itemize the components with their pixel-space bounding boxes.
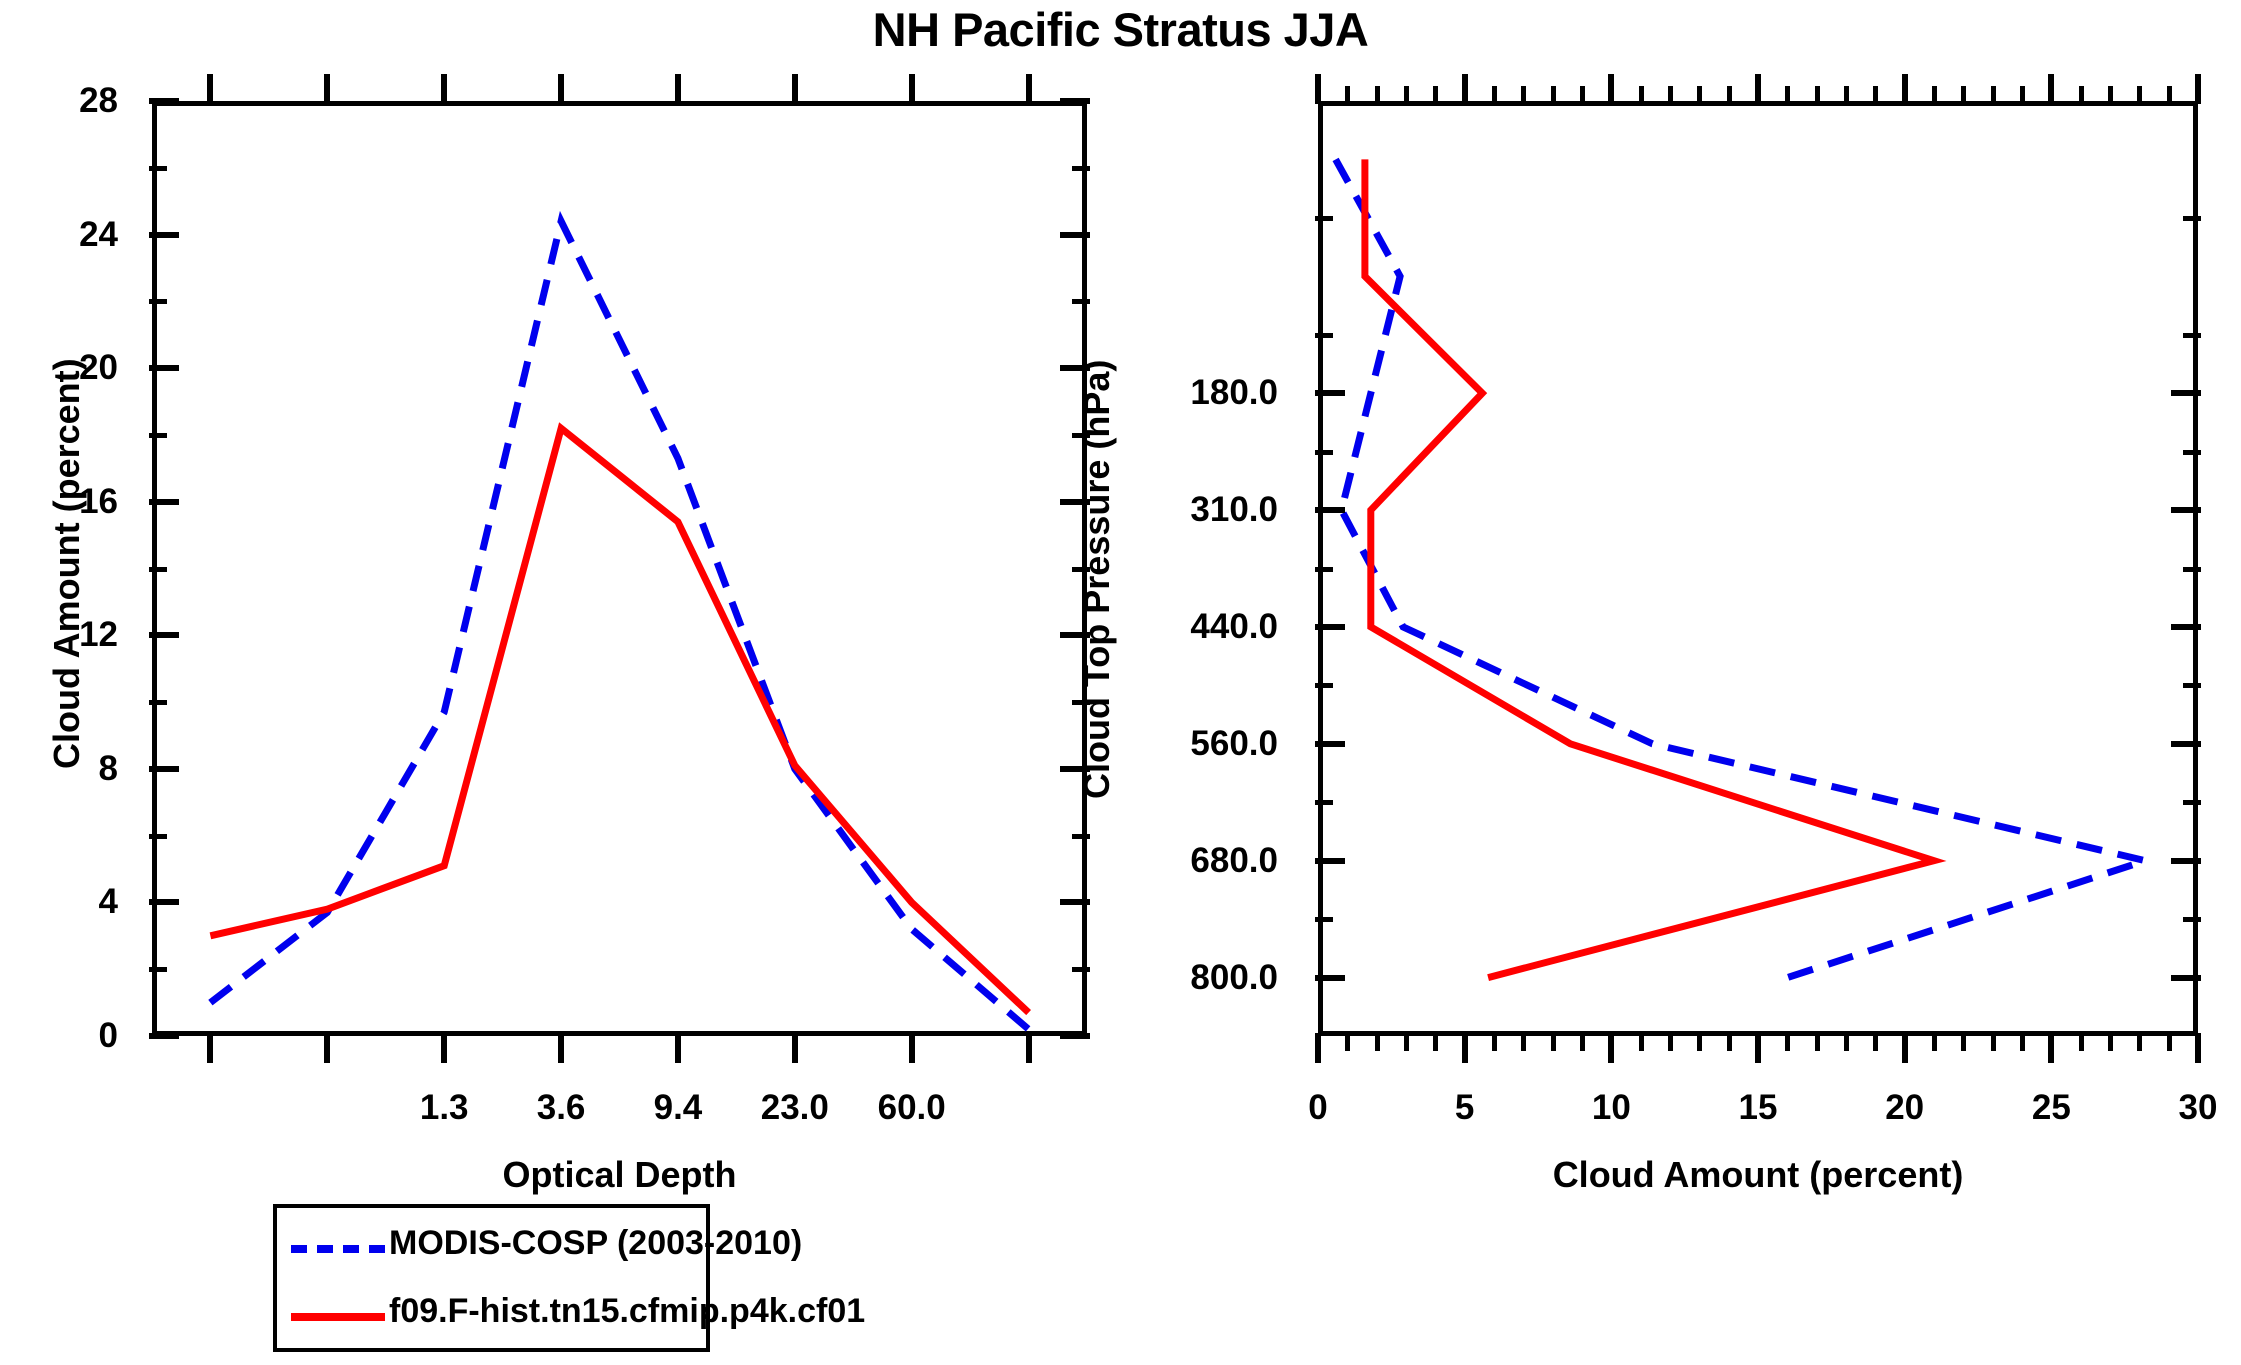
axis-tick [1639, 1033, 1644, 1051]
axis-tick [1580, 86, 1585, 104]
axis-tick [1639, 86, 1644, 104]
axis-tick [1315, 975, 1345, 981]
axis-tick-label: 15 [1739, 1088, 1778, 1128]
axis-tick [1668, 86, 1673, 104]
axis-tick [1755, 74, 1761, 104]
axis-tick [1315, 800, 1333, 805]
axis-tick [1462, 1033, 1468, 1063]
axis-tick [1315, 333, 1333, 338]
axis-tick [2171, 624, 2201, 630]
axis-tick [1345, 1033, 1350, 1051]
axis-tick [2167, 1033, 2172, 1051]
axis-tick [1521, 86, 1526, 104]
axis-tick-label: 560.0 [1108, 724, 1278, 764]
axis-tick [2171, 975, 2201, 981]
legend-label-modis: MODIS-COSP (2003-2010) [389, 1224, 802, 1263]
legend-swatch-solid [291, 1313, 385, 1321]
axis-tick [1608, 74, 1614, 104]
axis-tick [1462, 74, 1468, 104]
axis-tick [1697, 86, 1702, 104]
axis-tick [1433, 1033, 1438, 1051]
axis-tick [1433, 86, 1438, 104]
axis-tick [2171, 741, 2201, 747]
axis-tick-label: 310.0 [1108, 490, 1278, 530]
axis-tick [2171, 507, 2201, 513]
axis-tick [2048, 1033, 2054, 1063]
axis-tick [1785, 1033, 1790, 1051]
axis-tick [1844, 86, 1849, 104]
cloud-top-pressure-x-axis-title: Cloud Amount (percent) [1553, 1154, 1964, 1196]
axis-tick [2183, 917, 2201, 922]
axis-tick [1315, 216, 1333, 221]
axis-tick-label: 10 [1592, 1088, 1631, 1128]
axis-tick [1375, 1033, 1380, 1051]
axis-tick-label: 440.0 [1108, 607, 1278, 647]
axis-tick [2137, 1033, 2142, 1051]
axis-tick [1315, 450, 1333, 455]
axis-tick [2171, 390, 2201, 396]
axis-tick [1727, 86, 1732, 104]
axis-tick-label: 180.0 [1108, 373, 1278, 413]
axis-tick [1815, 86, 1820, 104]
axis-tick [2183, 567, 2201, 572]
axis-tick-label: 0 [1308, 1088, 1327, 1128]
axis-tick [1404, 1033, 1409, 1051]
axis-tick [1315, 683, 1333, 688]
axis-tick [2195, 1033, 2201, 1063]
axis-tick [1608, 1033, 1614, 1063]
axis-tick [1521, 1033, 1526, 1051]
axis-tick [1404, 86, 1409, 104]
axis-tick [2137, 86, 2142, 104]
cloud-top-pressure-y-axis-title: Cloud Top Pressure (hPa) [1076, 359, 1118, 798]
axis-tick [2020, 86, 2025, 104]
axis-tick-label: 20 [1885, 1088, 1924, 1128]
axis-tick [1697, 1033, 1702, 1051]
legend-entry-modis: MODIS-COSP (2003-2010) [277, 1216, 706, 1276]
data-series-line [1336, 159, 2146, 977]
axis-tick [2108, 1033, 2113, 1051]
axis-tick [2195, 74, 2201, 104]
axis-tick [2183, 683, 2201, 688]
axis-tick [1315, 390, 1345, 396]
axis-tick [1727, 1033, 1732, 1051]
data-series-line [1365, 159, 1934, 977]
axis-tick [1580, 1033, 1585, 1051]
axis-tick [1932, 86, 1937, 104]
axis-tick [2183, 216, 2201, 221]
axis-tick [1551, 1033, 1556, 1051]
axis-tick [2079, 1033, 2084, 1051]
axis-tick-label: 5 [1455, 1088, 1474, 1128]
legend-entry-model: f09.F-hist.tn15.cfmip.p4k.cf01 [277, 1284, 706, 1344]
axis-tick [2183, 450, 2201, 455]
axis-tick [2183, 333, 2201, 338]
axis-tick [2167, 86, 2172, 104]
axis-tick-label: 30 [2179, 1088, 2218, 1128]
axis-tick [1991, 1033, 1996, 1051]
axis-tick [2079, 86, 2084, 104]
axis-tick [1345, 86, 1350, 104]
axis-tick [1315, 507, 1345, 513]
axis-tick [1315, 1033, 1321, 1063]
axis-tick [1961, 86, 1966, 104]
axis-tick-label: 25 [2032, 1088, 2071, 1128]
axis-tick [1315, 567, 1333, 572]
axis-tick [1932, 1033, 1937, 1051]
legend-swatch-dashed [291, 1245, 385, 1253]
axis-tick [2108, 86, 2113, 104]
axis-tick [1844, 1033, 1849, 1051]
axis-tick [2048, 74, 2054, 104]
axis-tick [2020, 1033, 2025, 1051]
axis-tick [1873, 86, 1878, 104]
axis-tick [1961, 1033, 1966, 1051]
axis-tick [1991, 86, 1996, 104]
axis-tick [1785, 86, 1790, 104]
axis-tick [1902, 1033, 1908, 1063]
axis-tick [1492, 86, 1497, 104]
axis-tick [1315, 917, 1333, 922]
axis-tick [1492, 1033, 1497, 1051]
axis-tick [1873, 1033, 1878, 1051]
legend: MODIS-COSP (2003-2010) f09.F-hist.tn15.c… [273, 1204, 710, 1352]
axis-tick [1902, 74, 1908, 104]
axis-tick [1315, 858, 1345, 864]
legend-label-model: f09.F-hist.tn15.cfmip.p4k.cf01 [389, 1292, 865, 1331]
axis-tick [1315, 741, 1345, 747]
axis-tick [1375, 86, 1380, 104]
axis-tick [2183, 800, 2201, 805]
axis-tick [1668, 1033, 1673, 1051]
axis-tick [1315, 74, 1321, 104]
axis-tick [2171, 858, 2201, 864]
axis-tick [1755, 1033, 1761, 1063]
axis-tick-label: 680.0 [1108, 841, 1278, 881]
axis-tick [1551, 86, 1556, 104]
axis-tick-label: 800.0 [1108, 958, 1278, 998]
axis-tick [1315, 624, 1345, 630]
axis-tick [1815, 1033, 1820, 1051]
